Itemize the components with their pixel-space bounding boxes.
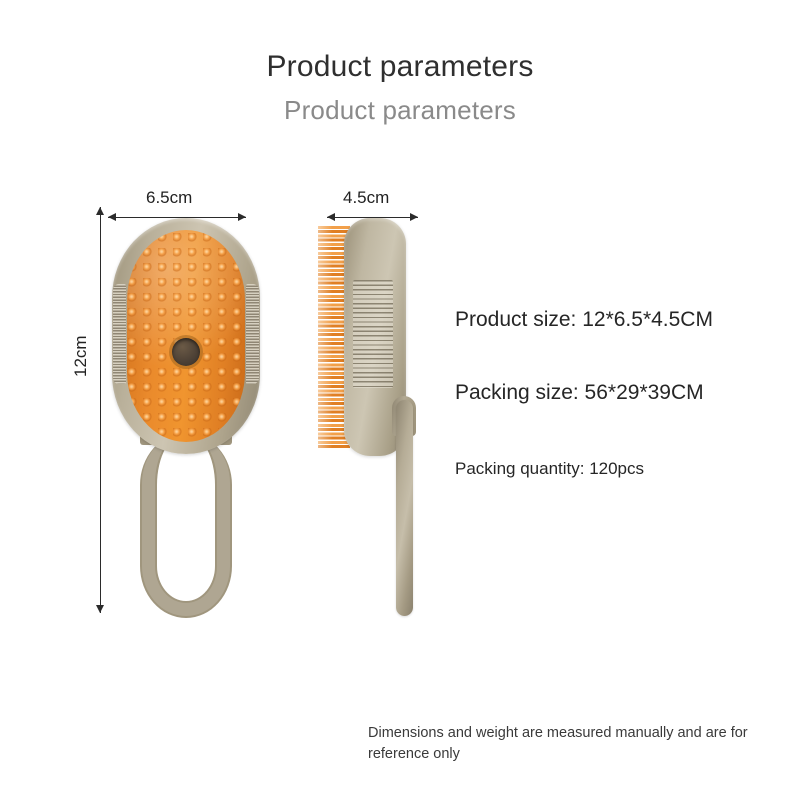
product-grip-left xyxy=(113,284,126,384)
spec-packing-quantity: Packing quantity: 120pcs xyxy=(455,459,644,479)
page-title: Product parameters xyxy=(0,50,800,84)
disclaimer-note: Dimensions and weight are measured manua… xyxy=(368,723,786,764)
spec-packing-size: Packing size: 56*29*39CM xyxy=(455,381,704,405)
spec-product-size: Product size: 12*6.5*4.5CM xyxy=(455,308,713,332)
product-handle-side xyxy=(396,400,413,616)
product-shell xyxy=(112,218,260,454)
measure-line-stroke xyxy=(100,207,101,613)
product-ridge-texture xyxy=(353,280,393,388)
product-image-side-view xyxy=(318,218,428,618)
product-handle-loop xyxy=(140,433,232,618)
page-subtitle: Product parameters xyxy=(0,95,800,126)
product-silicone-pad xyxy=(127,230,245,442)
product-center-hole xyxy=(172,338,200,366)
product-image-front-view xyxy=(112,218,260,618)
dimension-label-height: 12cm xyxy=(71,335,91,377)
dimension-label-front-width: 6.5cm xyxy=(146,188,192,208)
arrow-down-icon xyxy=(96,605,104,613)
measure-line-height xyxy=(96,207,105,613)
dimension-label-side-width: 4.5cm xyxy=(343,188,389,208)
product-pad-bumps xyxy=(127,230,245,442)
product-grip-right xyxy=(246,284,259,384)
